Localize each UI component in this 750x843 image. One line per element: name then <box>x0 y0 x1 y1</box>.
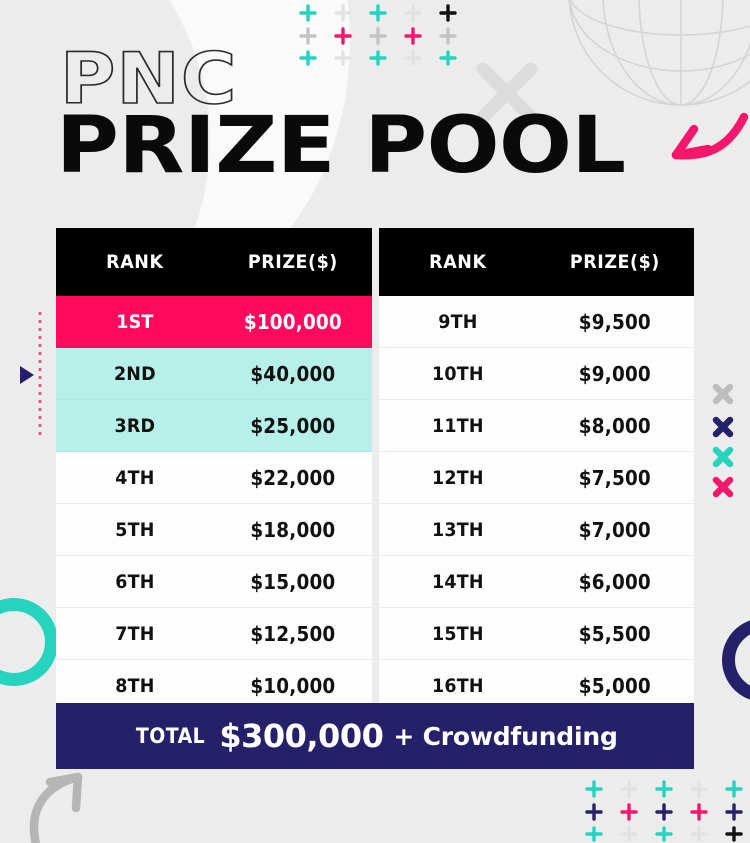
header-prize-right: PRIZE($) <box>543 251 688 273</box>
table-header-row-right: RANK PRIZE($) <box>379 228 695 296</box>
cell-rank: 10TH <box>385 363 530 385</box>
cell-rank: 4TH <box>62 467 207 489</box>
cell-prize: $18,000 <box>220 518 365 542</box>
gray-curved-arrow-icon <box>6 766 106 843</box>
cell-rank: 3RD <box>62 415 207 437</box>
total-amount: $300,000 <box>219 717 383 755</box>
cell-prize: $12,500 <box>220 622 365 646</box>
header-rank-left: RANK <box>62 251 207 273</box>
table-row[interactable]: 9TH $9,500 <box>379 296 695 348</box>
navy-ring-decoration <box>722 618 750 702</box>
total-extra: + Crowdfunding <box>393 722 617 751</box>
cell-prize: $7,500 <box>543 466 688 490</box>
cell-prize: $5,000 <box>543 674 688 698</box>
table-row[interactable]: 12TH $7,500 <box>379 452 695 504</box>
cell-prize: $22,000 <box>220 466 365 490</box>
cell-rank: 6TH <box>62 571 207 593</box>
table-row[interactable]: 5TH $18,000 <box>56 504 372 556</box>
cell-prize: $5,500 <box>543 622 688 646</box>
cell-prize: $7,000 <box>543 518 688 542</box>
prize-table: RANK PRIZE($) 1ST $100,000 2ND $40,000 3… <box>56 228 694 711</box>
cell-rank: 8TH <box>62 675 207 697</box>
table-row[interactable]: 6TH $15,000 <box>56 556 372 608</box>
teal-ring-decoration <box>0 598 58 686</box>
prize-table-right-half: RANK PRIZE($) 9TH $9,500 10TH $9,000 11T… <box>379 228 695 711</box>
title-prize-pool: PRIZE POOL <box>56 109 750 184</box>
cell-prize: $8,000 <box>543 414 688 438</box>
cell-rank: 7TH <box>62 623 207 645</box>
cell-rank: 2ND <box>62 363 207 385</box>
cell-prize: $9,500 <box>543 310 688 334</box>
table-row[interactable]: 10TH $9,000 <box>379 348 695 400</box>
x-mark-stack-icon <box>705 382 741 500</box>
dashed-marker-icon <box>14 310 50 440</box>
cell-prize: $9,000 <box>543 362 688 386</box>
cell-rank: 9TH <box>385 311 530 333</box>
cell-rank: 11TH <box>385 415 530 437</box>
table-row[interactable]: 4TH $22,000 <box>56 452 372 504</box>
cell-rank: 14TH <box>385 571 530 593</box>
cell-prize: $100,000 <box>220 310 365 334</box>
total-bar: TOTAL $300,000 + Crowdfunding <box>56 703 694 769</box>
plus-pattern-bottom-icon <box>584 778 744 842</box>
table-row[interactable]: 2ND $40,000 <box>56 348 372 400</box>
table-row[interactable]: 3RD $25,000 <box>56 400 372 452</box>
cell-prize: $6,000 <box>543 570 688 594</box>
header-prize-left: PRIZE($) <box>220 251 365 273</box>
table-row[interactable]: 11TH $8,000 <box>379 400 695 452</box>
cell-prize: $15,000 <box>220 570 365 594</box>
cell-rank: 12TH <box>385 467 530 489</box>
header-rank-right: RANK <box>385 251 530 273</box>
prize-pool-poster: PNC PRIZE POOL RANK PRIZE($) 1ST $100,00… <box>0 0 750 843</box>
table-header-row-left: RANK PRIZE($) <box>56 228 372 296</box>
cell-prize: $10,000 <box>220 674 365 698</box>
prize-table-left-half: RANK PRIZE($) 1ST $100,000 2ND $40,000 3… <box>56 228 372 711</box>
table-row[interactable]: 7TH $12,500 <box>56 608 372 660</box>
table-row[interactable]: 15TH $5,500 <box>379 608 695 660</box>
total-label: TOTAL <box>136 724 205 748</box>
table-row[interactable]: 14TH $6,000 <box>379 556 695 608</box>
table-row[interactable]: 13TH $7,000 <box>379 504 695 556</box>
table-row[interactable]: 1ST $100,000 <box>56 296 372 348</box>
cell-rank: 1ST <box>62 311 207 333</box>
cell-rank: 5TH <box>62 519 207 541</box>
cell-prize: $25,000 <box>220 414 365 438</box>
cell-rank: 13TH <box>385 519 530 541</box>
poster-title: PNC PRIZE POOL <box>56 46 696 184</box>
cell-rank: 15TH <box>385 623 530 645</box>
cell-prize: $40,000 <box>220 362 365 386</box>
cell-rank: 16TH <box>385 675 530 697</box>
